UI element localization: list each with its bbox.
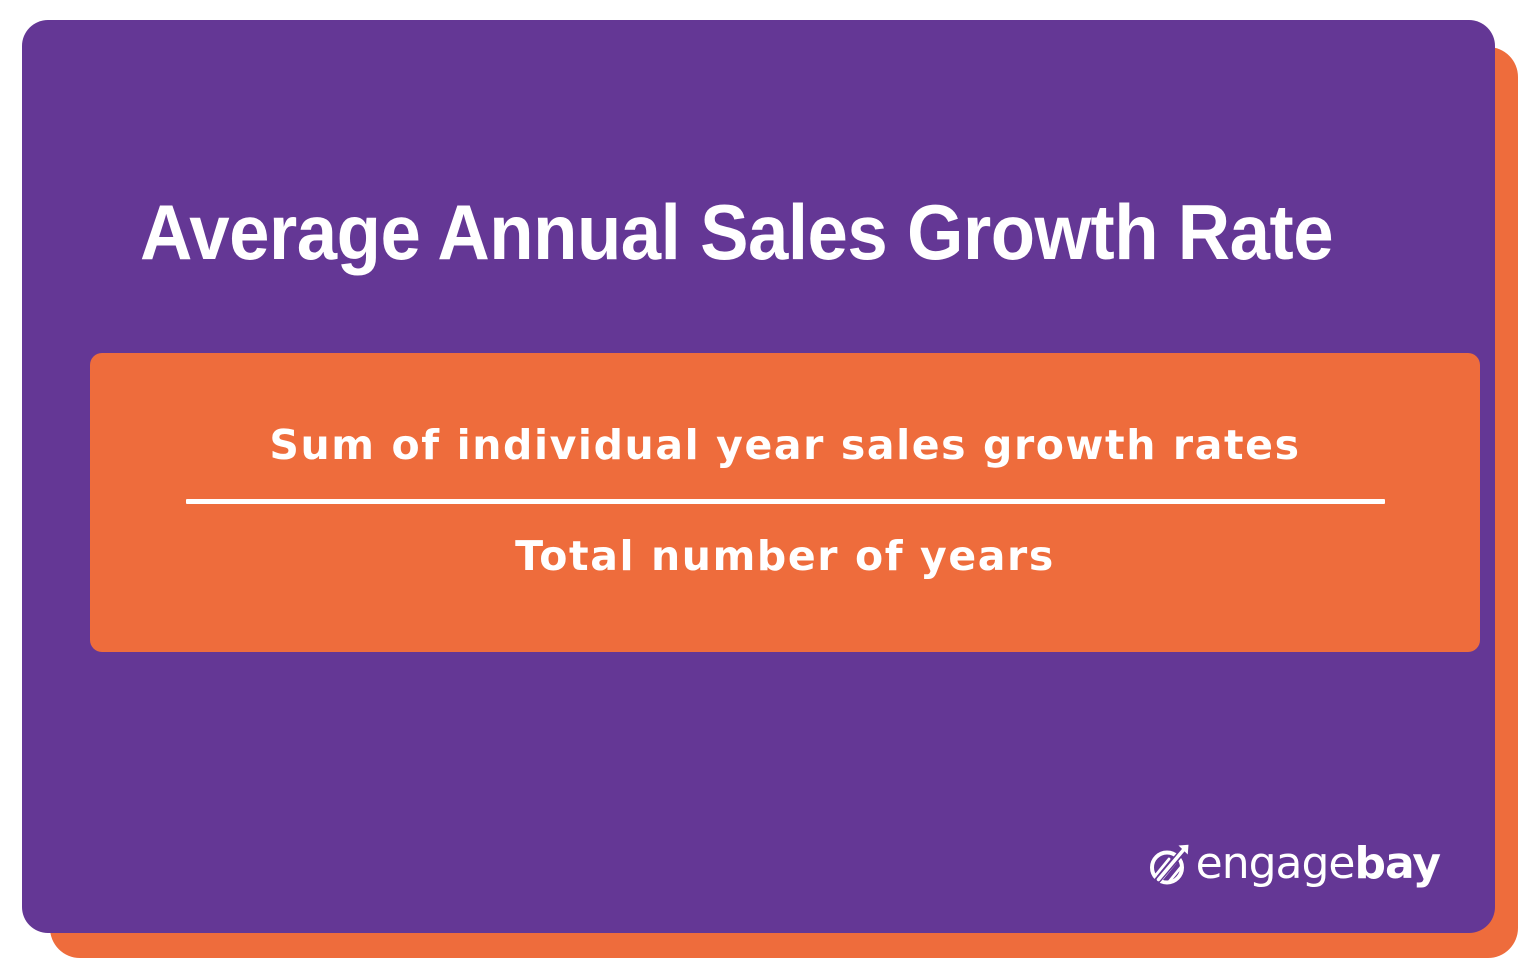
infographic-canvas: Average Annual Sales Growth Rate Sum of … [0, 0, 1536, 979]
formula-denominator: Total number of years [515, 532, 1055, 580]
page-title: Average Annual Sales Growth Rate [140, 192, 1349, 274]
fraction-bar [186, 499, 1385, 504]
purple-main-card: Average Annual Sales Growth Rate Sum of … [22, 20, 1495, 933]
engagebay-logo: engagebay [1144, 839, 1440, 889]
logo-wordmark: engagebay [1196, 842, 1440, 886]
formula-numerator: Sum of individual year sales growth rate… [269, 421, 1300, 469]
formula-panel: Sum of individual year sales growth rate… [90, 353, 1480, 652]
logo-word-bay: bay [1354, 838, 1440, 889]
engagebay-swoosh-icon [1144, 839, 1194, 889]
logo-word-engage: engage [1196, 838, 1355, 889]
formula-stack: Sum of individual year sales growth rate… [90, 353, 1480, 652]
